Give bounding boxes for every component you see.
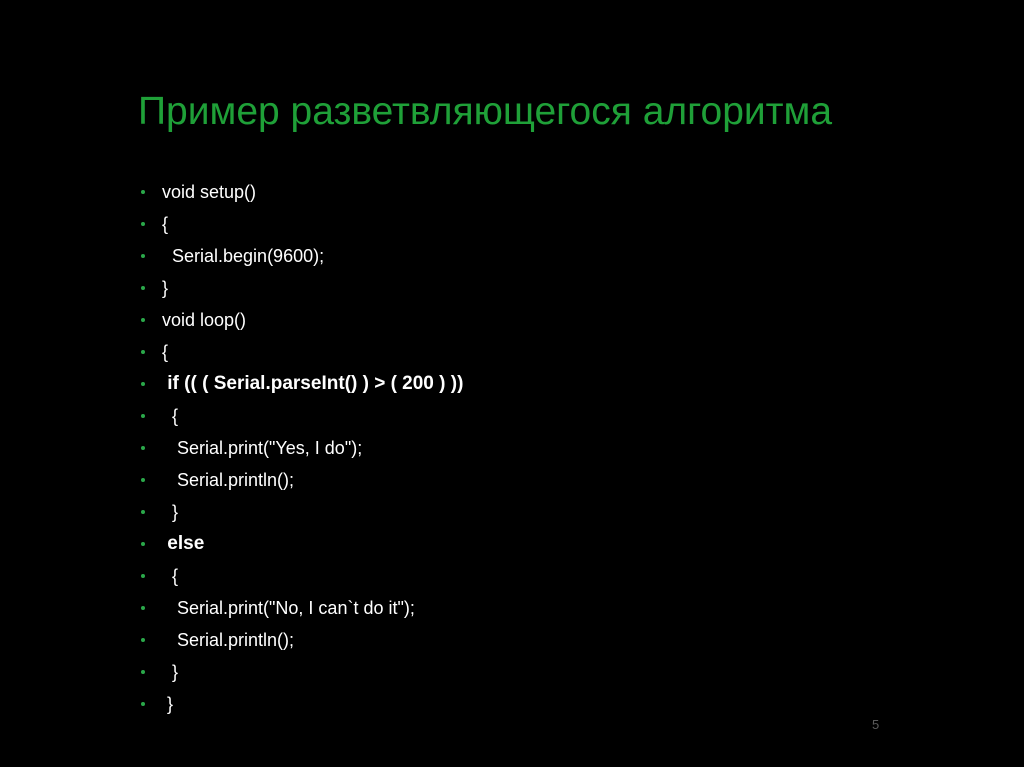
list-item: { <box>136 560 936 592</box>
list-item: if (( ( Serial.parseInt() ) > ( 200 ) )) <box>136 368 936 400</box>
bullet-dot-icon <box>141 702 145 706</box>
bullet-dot-icon <box>141 414 145 418</box>
bullet-dot-icon <box>141 670 145 674</box>
code-bullet-list: void setup(){ Serial.begin(9600);}void l… <box>136 176 936 720</box>
bullet-dot-icon <box>141 222 145 226</box>
list-item: void loop() <box>136 304 936 336</box>
list-item: Serial.begin(9600); <box>136 240 936 272</box>
list-item: void setup() <box>136 176 936 208</box>
code-line-text: } <box>162 272 168 304</box>
code-line-text: Serial.println(); <box>162 464 294 496</box>
bullet-dot-icon <box>141 510 145 514</box>
code-line-text: void loop() <box>162 304 246 336</box>
code-line-text: Serial.begin(9600); <box>162 240 324 272</box>
bullet-dot-icon <box>141 254 145 258</box>
list-item: } <box>136 272 936 304</box>
page-title: Пример разветвляющегося алгоритма <box>138 88 898 136</box>
page-number: 5 <box>872 716 902 734</box>
code-line-text: if (( ( Serial.parseInt() ) > ( 200 ) )) <box>162 368 463 400</box>
presentation-slide: Пример разветвляющегося алгоритма void s… <box>0 0 1024 767</box>
bullet-dot-icon <box>141 286 145 290</box>
code-line-text: Serial.print("Yes, I do"); <box>162 432 362 464</box>
code-line-text: { <box>162 400 178 432</box>
list-item: else <box>136 528 936 560</box>
code-line-text: else <box>162 528 204 560</box>
code-line-text: { <box>162 336 168 368</box>
list-item: } <box>136 688 936 720</box>
bullet-dot-icon <box>141 574 145 578</box>
code-line-text: { <box>162 208 168 240</box>
bullet-dot-icon <box>141 542 145 546</box>
bullet-dot-icon <box>141 190 145 194</box>
code-line-text: void setup() <box>162 176 256 208</box>
code-line-text: Serial.print("No, I can`t do it"); <box>162 592 415 624</box>
bullet-dot-icon <box>141 478 145 482</box>
code-line-text: } <box>162 656 178 688</box>
bullet-dot-icon <box>141 382 145 386</box>
bullet-dot-icon <box>141 606 145 610</box>
list-item: Serial.println(); <box>136 464 936 496</box>
bullet-dot-icon <box>141 638 145 642</box>
list-item: { <box>136 336 936 368</box>
bullet-dot-icon <box>141 446 145 450</box>
list-item: } <box>136 496 936 528</box>
bullet-dot-icon <box>141 318 145 322</box>
code-line-text: } <box>162 688 173 720</box>
list-item: Serial.print("No, I can`t do it"); <box>136 592 936 624</box>
code-line-text: } <box>162 496 178 528</box>
list-item: Serial.print("Yes, I do"); <box>136 432 936 464</box>
list-item: { <box>136 400 936 432</box>
list-item: } <box>136 656 936 688</box>
bullet-dot-icon <box>141 350 145 354</box>
list-item: { <box>136 208 936 240</box>
code-line-text: { <box>162 560 178 592</box>
code-line-text: Serial.println(); <box>162 624 294 656</box>
list-item: Serial.println(); <box>136 624 936 656</box>
